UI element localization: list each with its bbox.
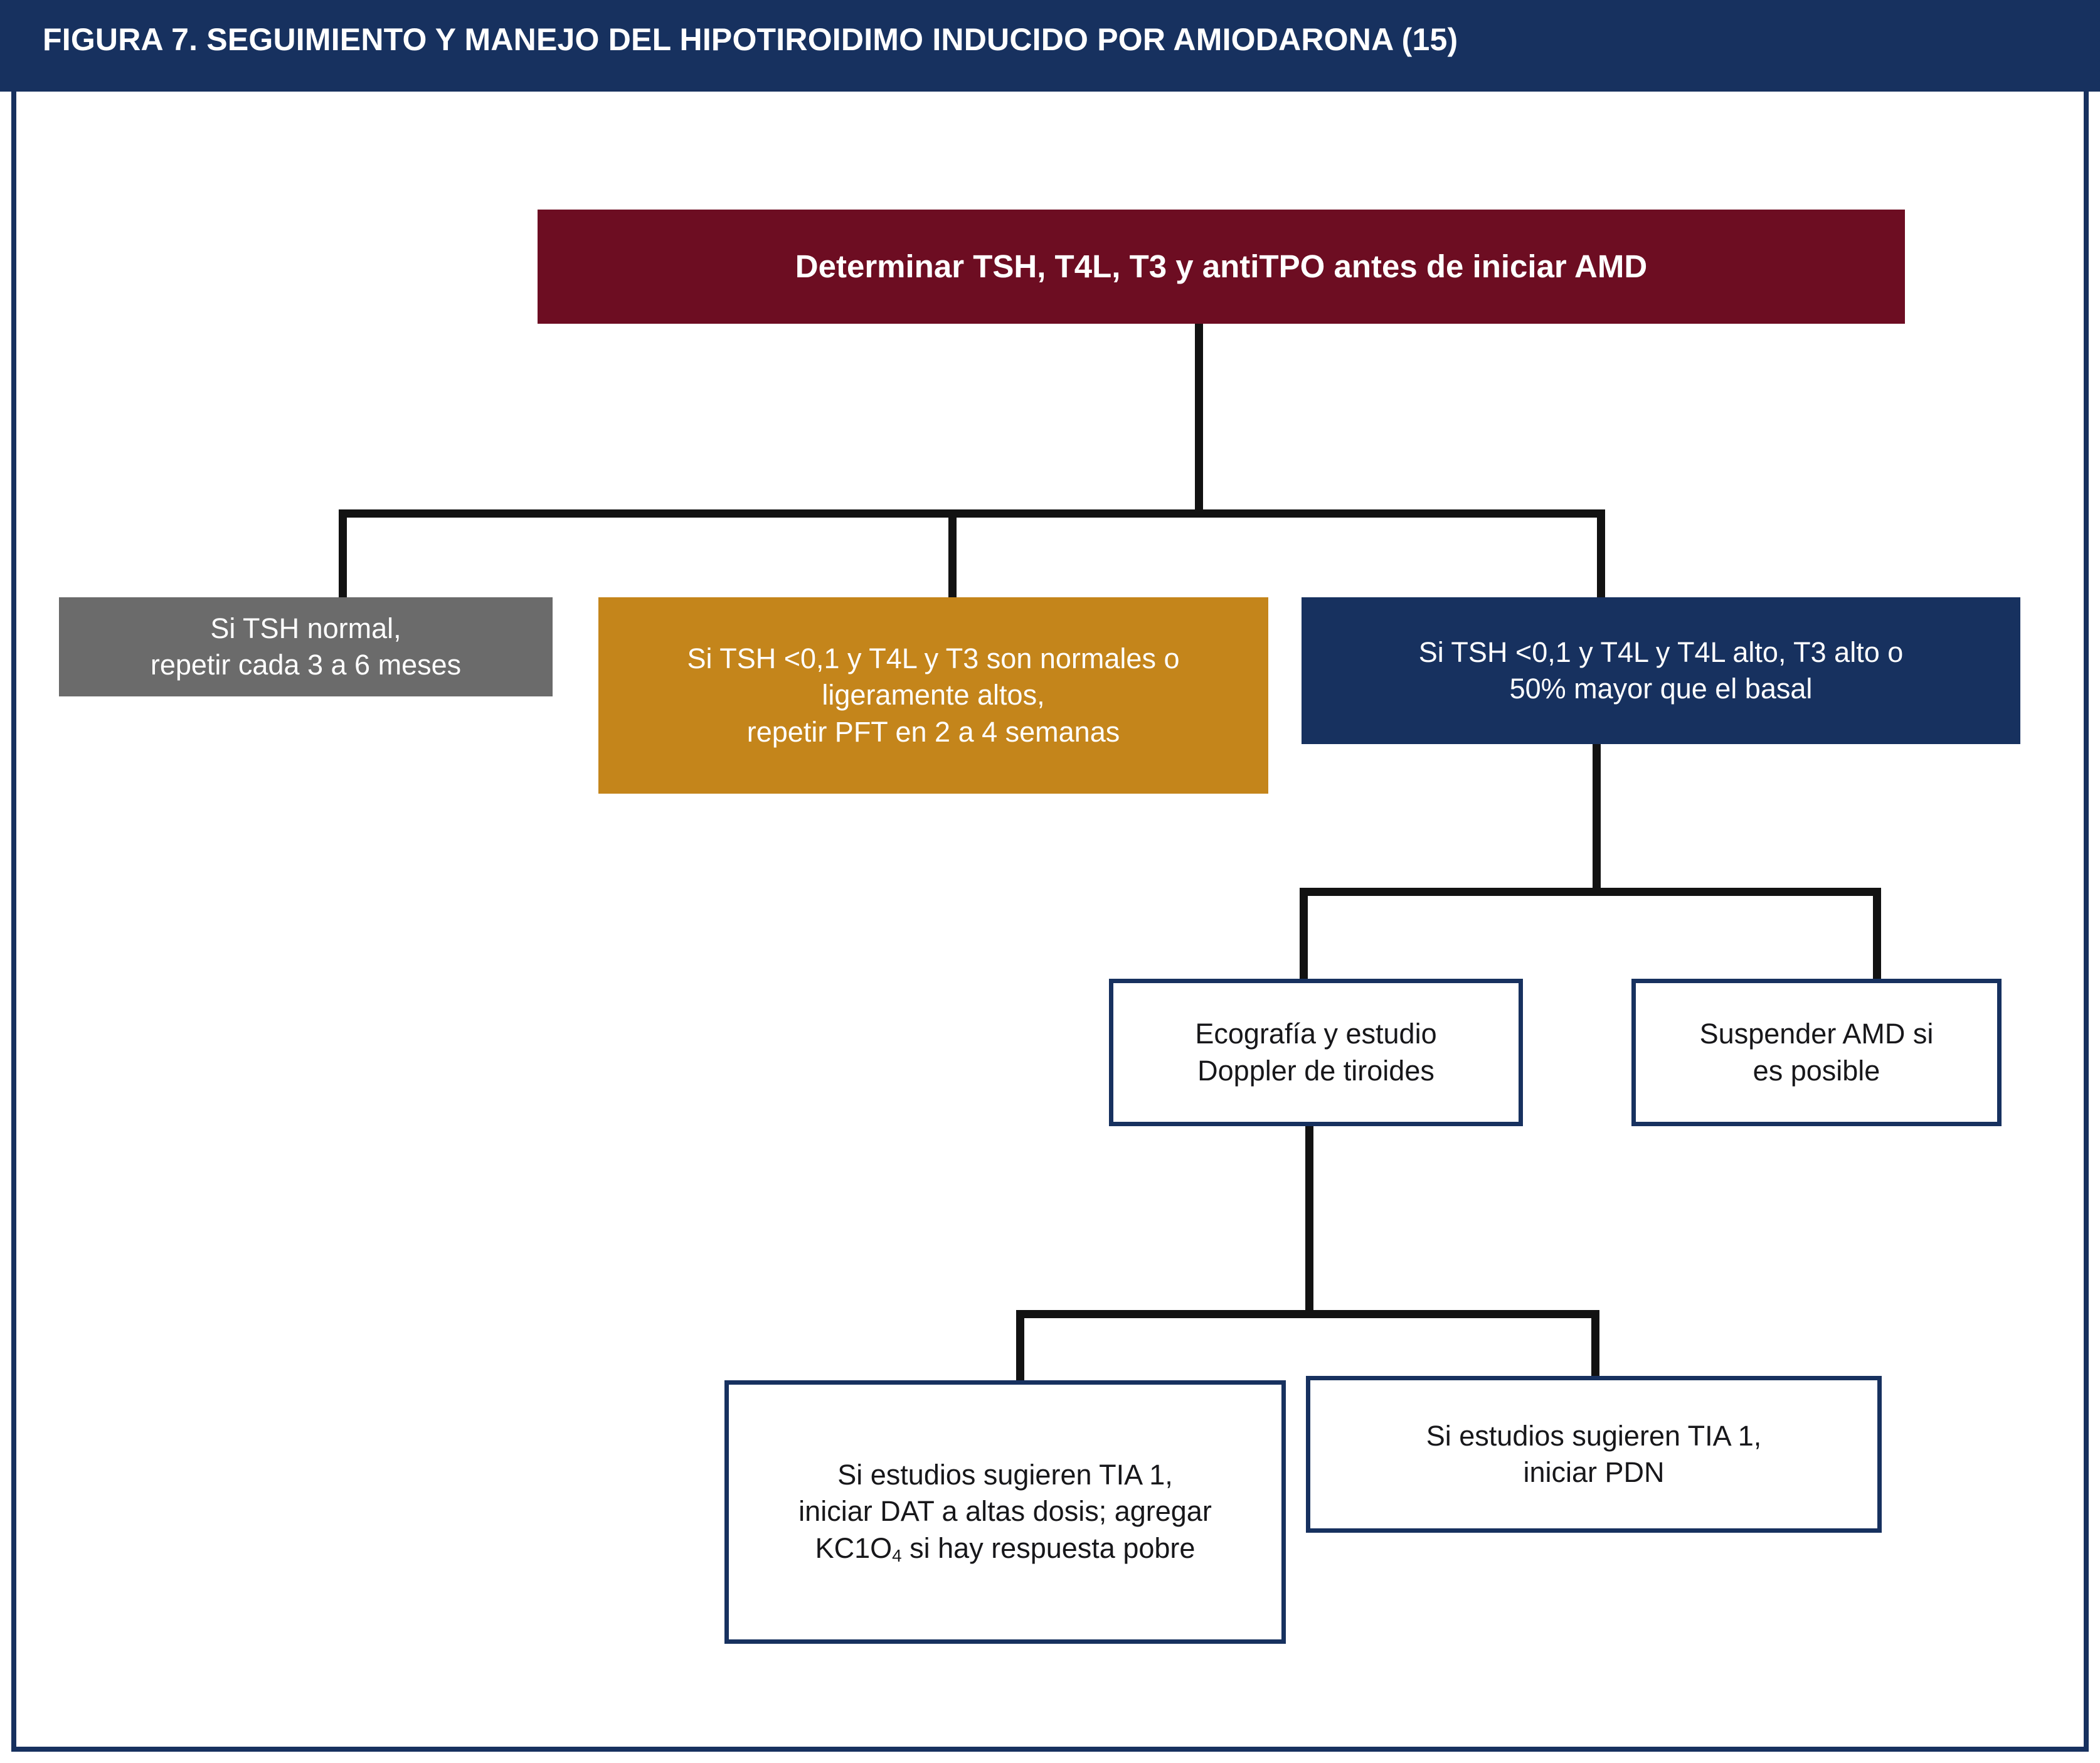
frame-rule-right — [2084, 92, 2089, 1752]
node-ecografia-line1: Ecografía y estudio — [1195, 1018, 1436, 1050]
page-title: FIGURA 7. SEGUIMIENTO Y MANEJO DEL HIPOT… — [43, 21, 1458, 58]
node-tia1-pdn-line1: Si estudios sugieren TIA 1, — [1426, 1420, 1762, 1452]
node-tia1-dat-text: Si estudios sugieren TIA 1, iniciar DAT … — [729, 1457, 1281, 1567]
frame-rule-bottom — [11, 1747, 2089, 1752]
node-tia1-dat-line1: Si estudios sugieren TIA 1, — [837, 1459, 1173, 1491]
connector-drop-ecografia — [1300, 888, 1308, 982]
node-tsh-normal-line2: repetir cada 3 a 6 meses — [151, 649, 461, 681]
connector-level1-bar — [339, 509, 1605, 518]
node-tia1-dat-line2: iniciar DAT a altas dosis; agregar — [798, 1495, 1212, 1527]
connector-root-stem — [1195, 320, 1203, 514]
node-tsh-low-normal-line2: ligeramente altos, — [822, 679, 1044, 711]
node-tia1-dat-line3-prefix: KC1O — [815, 1532, 893, 1564]
connector-drop-tia1-dat — [1016, 1310, 1024, 1384]
node-tsh-low-normal-text: Si TSH <0,1 y T4L y T3 son normales o li… — [598, 641, 1268, 751]
figure-header-band: FIGURA 7. SEGUIMIENTO Y MANEJO DEL HIPOT… — [0, 0, 2100, 92]
node-root-label: Determinar TSH, T4L, T3 y antiTPO antes … — [538, 246, 1905, 287]
connector-drop-tsh-low-normal — [948, 509, 957, 601]
node-suspender-amd[interactable]: Suspender AMD si es posible — [1631, 979, 2002, 1126]
connector-ecografia-stem — [1305, 1123, 1313, 1318]
node-suspender-line2: es posible — [1753, 1055, 1880, 1087]
connector-drop-suspender — [1873, 888, 1881, 982]
node-suspender-text: Suspender AMD si es posible — [1636, 1016, 1997, 1089]
node-tia1-pdn-line2: iniciar PDN — [1523, 1456, 1664, 1488]
connector-drop-tsh-low-high — [1597, 509, 1605, 601]
node-tsh-low-high-text: Si TSH <0,1 y T4L y T4L alto, T3 alto o … — [1302, 634, 2020, 708]
node-ecografia-text: Ecografía y estudio Doppler de tiroides — [1113, 1016, 1519, 1089]
node-tia1-dat-line3-subscript: 4 — [892, 1546, 902, 1565]
figure-page: FIGURA 7. SEGUIMIENTO Y MANEJO DEL HIPOT… — [0, 0, 2100, 1763]
node-root-determinar[interactable]: Determinar TSH, T4L, T3 y antiTPO antes … — [538, 210, 1905, 324]
node-tsh-low-normal-line3: repetir PFT en 2 a 4 semanas — [747, 716, 1120, 748]
node-tsh-low-normal-line1: Si TSH <0,1 y T4L y T3 son normales o — [687, 642, 1180, 674]
node-tia1-dat[interactable]: Si estudios sugieren TIA 1, iniciar DAT … — [724, 1380, 1286, 1644]
node-tsh-normal-line1: Si TSH normal, — [210, 612, 401, 644]
connector-level2-bar — [1300, 888, 1881, 896]
node-tia1-pdn-text: Si estudios sugieren TIA 1, iniciar PDN — [1310, 1418, 1877, 1491]
node-tia1-dat-line3-suffix: si hay respuesta pobre — [902, 1532, 1196, 1564]
node-ecografia-line2: Doppler de tiroides — [1197, 1055, 1434, 1087]
node-suspender-line1: Suspender AMD si — [1700, 1018, 1934, 1050]
node-tsh-low-high-line1: Si TSH <0,1 y T4L y T4L alto, T3 alto o — [1419, 636, 1904, 668]
connector-level3-bar — [1016, 1310, 1599, 1318]
node-tsh-normal-text: Si TSH normal, repetir cada 3 a 6 meses — [59, 610, 553, 684]
node-tia1-pdn[interactable]: Si estudios sugieren TIA 1, iniciar PDN — [1306, 1376, 1882, 1533]
connector-navy-stem — [1593, 742, 1601, 892]
node-tsh-low-normal-t4l[interactable]: Si TSH <0,1 y T4L y T3 son normales o li… — [598, 597, 1268, 794]
node-ecografia-doppler[interactable]: Ecografía y estudio Doppler de tiroides — [1109, 979, 1523, 1126]
node-tsh-low-high-line2: 50% mayor que el basal — [1510, 673, 1813, 705]
connector-drop-tia1-pdn — [1591, 1310, 1599, 1376]
node-tsh-normal[interactable]: Si TSH normal, repetir cada 3 a 6 meses — [59, 597, 553, 696]
frame-rule-left — [11, 92, 16, 1752]
node-tsh-low-high-t4l[interactable]: Si TSH <0,1 y T4L y T4L alto, T3 alto o … — [1302, 597, 2020, 744]
connector-drop-tsh-normal — [339, 509, 347, 601]
